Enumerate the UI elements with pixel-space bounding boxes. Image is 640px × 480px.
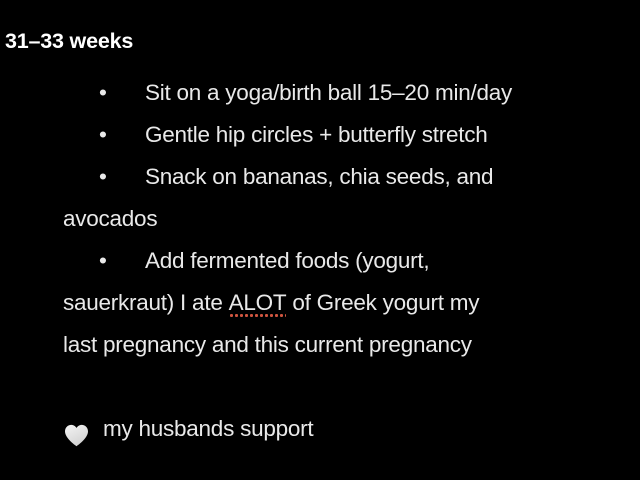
bullet-icon: • — [99, 72, 111, 114]
wrapped-line-suffix: of Greek yogurt my — [286, 290, 479, 315]
note-screenshot: 31–33 weeks • Sit on a yoga/birth ball 1… — [0, 0, 640, 480]
wrapped-line: avocados — [0, 198, 640, 240]
bullet-item-text: Snack on bananas, chia seeds, and — [145, 156, 493, 198]
bullet-item: • Snack on bananas, chia seeds, and — [0, 156, 640, 198]
heart-line: my husbands support — [0, 408, 640, 450]
white-heart-icon — [64, 419, 89, 442]
bullet-icon: • — [99, 114, 111, 156]
wrapped-line-with-misspelling: sauerkraut) I ate ALOT of Greek yogurt m… — [0, 282, 640, 324]
bullet-icon: • — [99, 240, 111, 282]
bullet-item: • Sit on a yoga/birth ball 15–20 min/day — [0, 72, 640, 114]
wrapped-line: last pregnancy and this current pregnanc… — [0, 324, 640, 366]
wrapped-line-text: last pregnancy and this current pregnanc… — [63, 324, 472, 366]
bullet-item-text: Add fermented foods (yogurt, — [145, 240, 429, 282]
bullet-item: • Add fermented foods (yogurt, — [0, 240, 640, 282]
bullet-item: • Gentle hip circles + butterfly stretch — [0, 114, 640, 156]
note-title: 31–33 weeks — [5, 29, 133, 54]
misspelled-word[interactable]: ALOT — [229, 282, 287, 324]
note-body: • Sit on a yoga/birth ball 15–20 min/day… — [0, 72, 640, 450]
bullet-item-text: Sit on a yoga/birth ball 15–20 min/day — [145, 72, 512, 114]
heart-line-text: my husbands support — [103, 408, 313, 450]
bullet-item-text: Gentle hip circles + butterfly stretch — [145, 114, 488, 156]
bullet-icon: • — [99, 156, 111, 198]
blank-line — [0, 366, 640, 408]
wrapped-line-prefix: sauerkraut) I ate — [63, 290, 229, 315]
wrapped-line-text: sauerkraut) I ate ALOT of Greek yogurt m… — [63, 282, 479, 324]
wrapped-line-text: avocados — [63, 198, 157, 240]
